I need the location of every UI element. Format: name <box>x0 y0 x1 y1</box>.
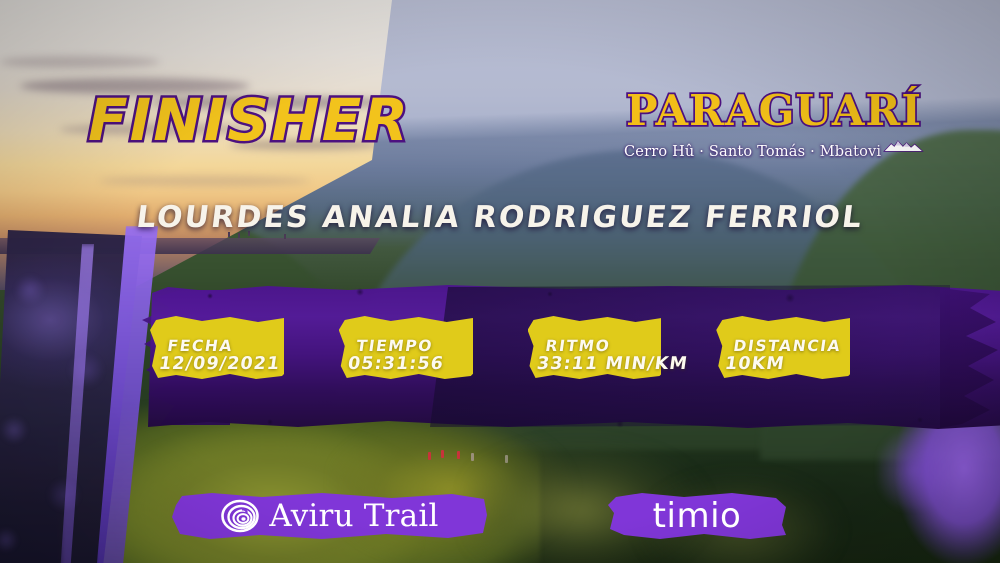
trail-runner-figure <box>441 450 444 458</box>
stat-card-tiempo: TIEMPO 05:31:56 <box>339 316 473 380</box>
stat-text-group: TIEMPO 05:31:56 <box>352 338 447 375</box>
finisher-certificate-card: FINISHER PARAGUARÍ Cerro Hû · Santo Tomá… <box>0 0 1000 563</box>
sponsor-name-timio: timio <box>608 493 786 539</box>
event-logo-subtitle-row: Cerro Hû · Santo Tomás · Mbatovi <box>624 130 924 160</box>
stat-text-group: DISTANCIA 10KM <box>730 338 843 375</box>
stat-label: DISTANCIA <box>733 338 843 354</box>
stat-value: 33:11 MIN/KM <box>535 354 689 375</box>
event-logo-subtitle: Cerro Hû · Santo Tomás · Mbatovi <box>624 144 881 160</box>
mountains-icon <box>883 130 924 160</box>
aviru-logo-group: Aviru Trail <box>172 493 487 539</box>
stat-card-distancia: DISTANCIA 10KM <box>716 316 850 380</box>
trail-runner-figure <box>505 455 508 463</box>
sponsor-banner-aviru-trail[interactable]: Aviru Trail <box>172 493 487 539</box>
stat-label: FECHA <box>166 338 283 354</box>
trail-runner-figure <box>457 451 460 459</box>
stat-value: 05:31:56 <box>346 354 445 375</box>
stat-label: RITMO <box>544 338 691 354</box>
event-logo-name: PARAGUARÍ <box>624 90 924 132</box>
trail-runner-figure <box>428 452 431 460</box>
spiral-shell-icon <box>220 496 260 536</box>
event-logo: PARAGUARÍ Cerro Hû · Santo Tomás · Mbato… <box>624 90 924 160</box>
stat-value: 10KM <box>724 354 841 375</box>
stats-row: FECHA 12/09/2021 TIEMPO 05:31:56 RITMO 3… <box>150 316 850 396</box>
stat-text-group: RITMO 33:11 MIN/KM <box>541 338 691 375</box>
stat-card-fecha: FECHA 12/09/2021 <box>150 316 284 380</box>
stat-label: TIEMPO <box>355 338 447 354</box>
sponsor-banner-timio[interactable]: timio <box>608 493 786 539</box>
sponsor-name-aviru-trail: Aviru Trail <box>269 501 438 532</box>
stat-card-ritmo: RITMO 33:11 MIN/KM <box>528 316 662 380</box>
stat-text-group: FECHA 12/09/2021 <box>163 338 283 375</box>
runner-name: LOURDES ANALIA RODRIGUEZ FERRIOL <box>0 200 1000 235</box>
trail-runner-figure <box>471 453 474 461</box>
cloud-streak <box>0 56 160 68</box>
page-title: FINISHER <box>88 86 410 154</box>
stat-value: 12/09/2021 <box>157 354 281 375</box>
